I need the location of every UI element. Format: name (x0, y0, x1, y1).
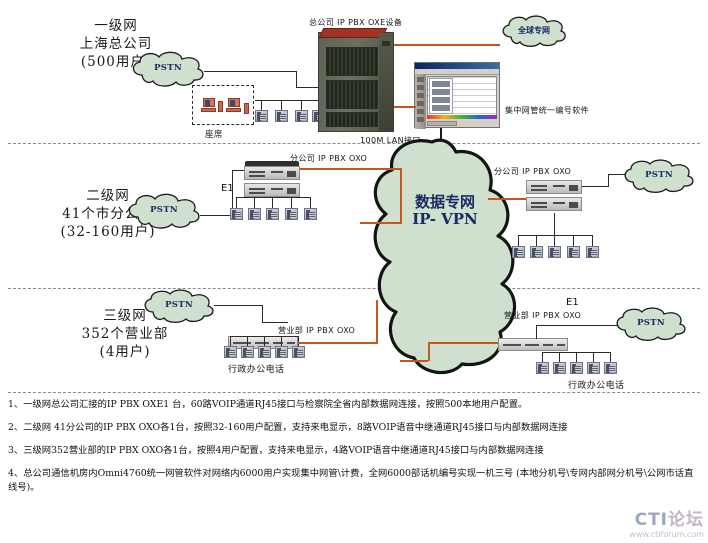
wire-branch-right-pstn-h1 (582, 186, 608, 187)
phone-tier2l-4 (285, 208, 298, 220)
agent-workstation-icon (200, 98, 217, 112)
phone-tier3l-4 (275, 346, 288, 358)
phone-tier2l-2 (248, 208, 261, 220)
wire-tier3l-drop-5 (298, 336, 299, 346)
branch-ip-pbx-oxo-left (244, 166, 300, 199)
wire-tier3r-drop-2 (559, 352, 560, 362)
note-2: 2、二级网 41分公司的IP PBX OXO各1台，按照32-160用户配置，支… (8, 421, 702, 435)
cloud-shape (620, 158, 698, 194)
wire-tier3l-drop-1 (230, 336, 231, 346)
e1-label-tier2: E1 (221, 183, 234, 194)
watermark-url: www.ctiforum.com (629, 530, 704, 539)
wire-branch-left-ip-h2 (360, 222, 402, 224)
branch-pbx-left-label: 分公司 IP PBX OXO (290, 153, 367, 164)
wire-tier1-drop-3 (301, 100, 302, 110)
wire-pstn1-to-rack-h1 (204, 71, 296, 72)
wire-tier2l-drop-5 (310, 197, 311, 208)
cloud-pstn-tier3-left: PSTN (140, 288, 218, 324)
pbx-unit-2 (526, 197, 582, 211)
cloud-pstn-tier3-right: PSTN (612, 306, 690, 342)
window-toolbar-rail (415, 74, 426, 129)
wire-office-right-pstn-h (536, 325, 618, 326)
agent-workstation-icon-2 (225, 98, 242, 112)
wire-branch-left-ip-v (400, 168, 402, 223)
cloud-shape (140, 288, 218, 324)
phone-tier3r-3 (570, 362, 583, 374)
wire-rack-to-globalnet (394, 44, 500, 46)
wire-tier2l-drop-1 (236, 197, 237, 208)
wire-tier3r-drop-5 (610, 352, 611, 362)
rack-side-panel (379, 33, 393, 131)
phone-tier3l-2 (241, 346, 254, 358)
window-statusbar (427, 121, 457, 126)
nms-software-label: 集中网管统一编号软件 (505, 105, 589, 116)
wire-pstn1-to-rack-v (296, 71, 297, 87)
phone-tier1-3 (295, 110, 308, 122)
wire-tier2r-phone-bus (518, 235, 592, 236)
wire-tier2l-drop-4 (291, 197, 292, 208)
cloud-shape (612, 306, 690, 342)
wire-branch-left-ip-h (300, 168, 402, 170)
wire-pstn3l-h2 (262, 322, 288, 323)
wire-tier3r-drop-3 (576, 352, 577, 362)
phone-tier2l-5 (304, 208, 317, 220)
phone-tier3l-5 (292, 346, 305, 358)
rack-bay-2 (326, 80, 378, 109)
watermark: CTI论坛 www.ctiforum.com (629, 512, 704, 539)
wire-office-right-ip-h1 (400, 360, 428, 362)
hq-ip-pbx-oxe-rack (318, 32, 394, 132)
tier-divider-1 (8, 143, 700, 144)
wire-rack-to-nms (394, 106, 416, 108)
pbx-unit-2 (244, 183, 300, 197)
note-3: 3、三级网352营业部的IP PBX OXO各1台，按照4用户配置，支持来电显示… (8, 444, 702, 458)
phone-tier3l-1 (224, 346, 237, 358)
wire-office-right-ip-v (428, 342, 430, 361)
wire-tier3l-drop-2 (247, 336, 248, 346)
wire-tier1-phone-bus (255, 100, 319, 101)
cloud-pstn-tier2-right: PSTN (620, 158, 698, 194)
phone-tier2r-1 (512, 246, 525, 258)
branch-ip-pbx-oxo-right (526, 180, 582, 213)
wire-office-left-ip-h (298, 342, 378, 344)
phone-tier2r-4 (567, 246, 580, 258)
wire-pstn2l-h1 (200, 215, 232, 216)
wire-office-left-ip-v (376, 300, 378, 344)
rack-bay-3 (326, 112, 378, 127)
wire-tier3r-drop-1 (542, 352, 543, 362)
agent-seat-box (192, 85, 254, 125)
window-menubar (415, 69, 499, 75)
wire-pstn3l-h1 (214, 305, 262, 306)
hq-pbx-label: 总公司 IP PBX OXE设备 (309, 17, 402, 28)
wire-tier3r-drop-4 (593, 352, 594, 362)
rack-top-panel (319, 28, 387, 38)
wire-branch-right-pstn-v (608, 174, 609, 187)
network-topology-diagram: 一级网 上海总公司 (500用户) PSTN 座席 总公司 IP PBX OXE… (0, 0, 708, 543)
wire-tier2r-drop-1 (518, 235, 519, 246)
rack-bay-1 (326, 47, 378, 76)
phone-tier3r-5 (604, 362, 617, 374)
wire-tier2r-trunk (554, 213, 555, 235)
phone-tier1-1 (255, 110, 268, 122)
cloud-shape (128, 50, 208, 88)
notes-section: 1、一级网总公司汇接的IP PBX OXE1 台，60路VOIP通道RJ45接口… (8, 398, 702, 504)
cloud-shape (124, 192, 204, 230)
admin-phone-right-label: 行政办公电话 (568, 378, 624, 391)
phone-tier3r-4 (587, 362, 600, 374)
wire-office-right-ip-h2 (428, 342, 498, 344)
phone-tier1-2 (275, 110, 288, 122)
cloud-global-net: 全球专网 (498, 14, 570, 48)
window-color-bar (427, 115, 497, 119)
tier-divider-3 (8, 392, 700, 393)
wire-tier3l-drop-3 (264, 336, 265, 346)
agent-tower-icon-2 (244, 103, 249, 114)
cloud-shape (498, 14, 570, 48)
pbx-unit-1 (526, 180, 582, 194)
wire-pstn3l-v (262, 305, 263, 322)
cloud-pstn-tier2-left: PSTN (124, 192, 204, 230)
phone-tier3l-3 (258, 346, 271, 358)
wire-tier1-drop-1 (261, 100, 262, 110)
phone-tier3r-2 (553, 362, 566, 374)
tier-divider-2 (8, 288, 700, 289)
phone-tier2l-1 (230, 208, 243, 220)
wire-tier2l-phone-bus (236, 197, 310, 198)
office-ip-pbx-oxo-right (498, 338, 568, 351)
nms-software-window (414, 62, 500, 128)
wire-tier3l-drop-4 (281, 336, 282, 346)
agent-tower-icon (218, 101, 223, 112)
phone-tier3r-1 (536, 362, 549, 374)
pbx-unit-1 (244, 166, 300, 180)
wire-tier2r-drop-4 (573, 235, 574, 246)
tier1-caption-line1: 一级网 (36, 18, 196, 36)
watermark-brand-cti: CTI (635, 510, 668, 530)
cloud-pstn-tier1: PSTN (128, 50, 208, 88)
note-4: 4、总公司通信机房内Omni4760统一网管软件对网络内6000用户实现集中网管… (8, 467, 702, 495)
tier3-caption-line2: 352个营业部 (40, 326, 210, 344)
office-pbx-right-label: 营业部 IP PBX OXO (504, 310, 581, 321)
wire-pstn1-to-rack-h2 (296, 87, 318, 88)
office-pbx-left-label: 营业部 IP PBX OXO (278, 325, 355, 336)
wire-tier2r-drop-2 (536, 235, 537, 246)
phone-tier2l-3 (266, 208, 279, 220)
phone-tier2r-3 (548, 246, 561, 258)
wire-tier1-drop-2 (281, 100, 282, 110)
admin-phone-left-label: 行政办公电话 (228, 362, 284, 375)
note-1: 1、一级网总公司汇接的IP PBX OXE1 台，60路VOIP通道RJ45接口… (8, 398, 702, 412)
wire-tier2r-drop-5 (592, 235, 593, 246)
wire-office-right-pstn-v (536, 325, 537, 339)
watermark-brand-zh: 论坛 (668, 510, 704, 530)
phone-tier2r-5 (586, 246, 599, 258)
e1-label-tier3: E1 (566, 297, 579, 308)
window-tree-panel (429, 78, 453, 114)
watermark-brand: CTI论坛 (629, 512, 704, 529)
branch-pbx-right-label: 分公司 IP PBX OXO (494, 166, 571, 177)
seat-area-label: 座席 (205, 128, 223, 140)
wire-tier2l-drop-2 (254, 197, 255, 208)
phone-tier2r-2 (530, 246, 543, 258)
wire-tier2r-drop-3 (554, 235, 555, 246)
tier3-caption-line3: (4用户) (40, 344, 210, 362)
wire-tier2l-drop-3 (272, 197, 273, 208)
